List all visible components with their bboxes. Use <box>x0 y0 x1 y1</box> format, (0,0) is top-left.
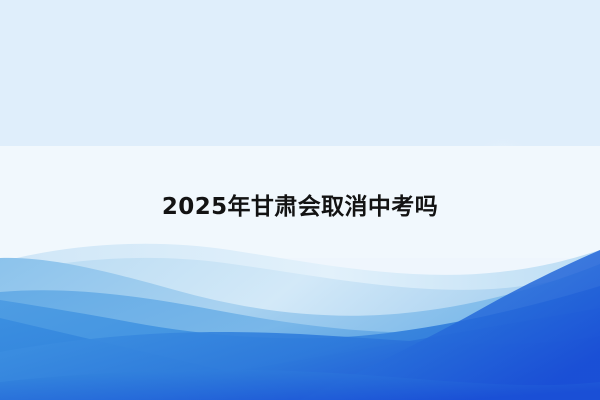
page-title: 2025年甘肃会取消中考吗 <box>0 185 600 229</box>
page-title-text: 2025年甘肃会取消中考吗 <box>162 196 438 219</box>
banner-image: 2025年甘肃会取消中考吗 <box>0 0 600 400</box>
